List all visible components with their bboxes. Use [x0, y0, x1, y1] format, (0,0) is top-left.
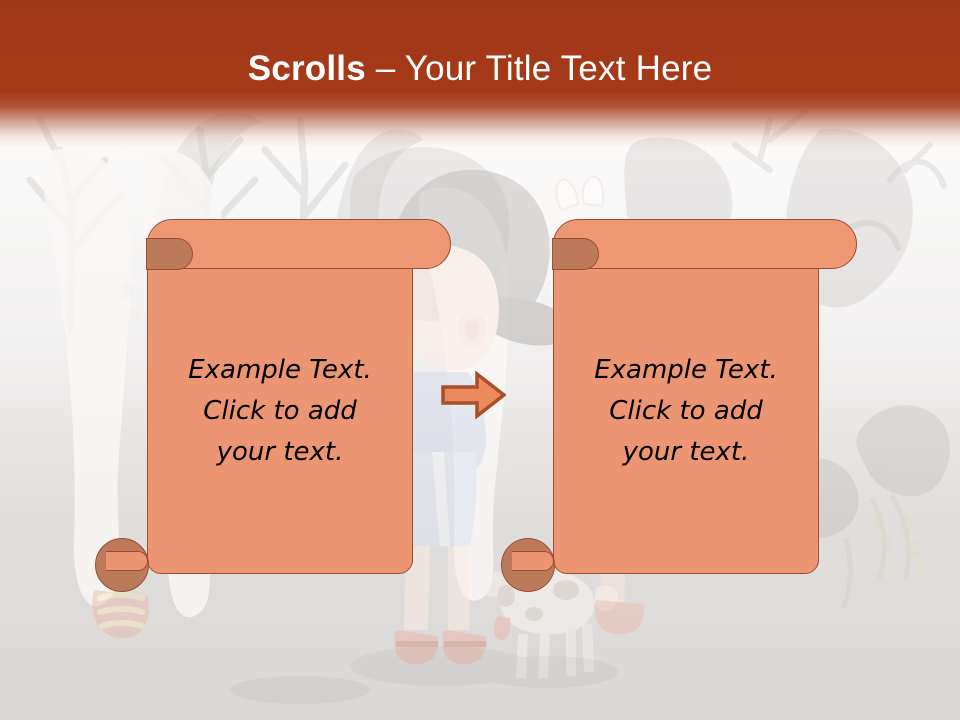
scroll-left-text-line-1: Example Text. [157, 350, 403, 391]
scroll-right-text-line-2: Click to add [563, 391, 809, 432]
scroll-left-text[interactable]: Example Text. Click to add your text. [157, 350, 403, 473]
scroll-left-bottom-notch [106, 551, 148, 571]
scroll-right-text[interactable]: Example Text. Click to add your text. [563, 350, 809, 473]
scroll-right-text-line-3: your text. [563, 432, 809, 473]
scroll-left-top-roll [147, 219, 451, 269]
page-title-bold: Scrolls [248, 49, 366, 88]
right-arrow-shape [443, 374, 504, 416]
scroll-right-bottom-notch [512, 551, 554, 571]
page-title-regular: Your Title Text Here [405, 49, 713, 88]
page-title: Scrolls – Your Title Text Here [0, 48, 960, 90]
right-arrow-icon [441, 371, 506, 419]
scroll-right-top-roll [553, 219, 857, 269]
scroll-right-text-line-1: Example Text. [563, 350, 809, 391]
scroll-left-top-curl [146, 238, 193, 270]
scroll-right-top-curl [552, 238, 599, 270]
presentation-slide: Scrolls – Your Title Text Here Example T… [0, 0, 960, 720]
page-title-separator: – [366, 49, 405, 88]
scroll-left-text-line-3: your text. [157, 432, 403, 473]
scroll-left-text-line-2: Click to add [157, 391, 403, 432]
